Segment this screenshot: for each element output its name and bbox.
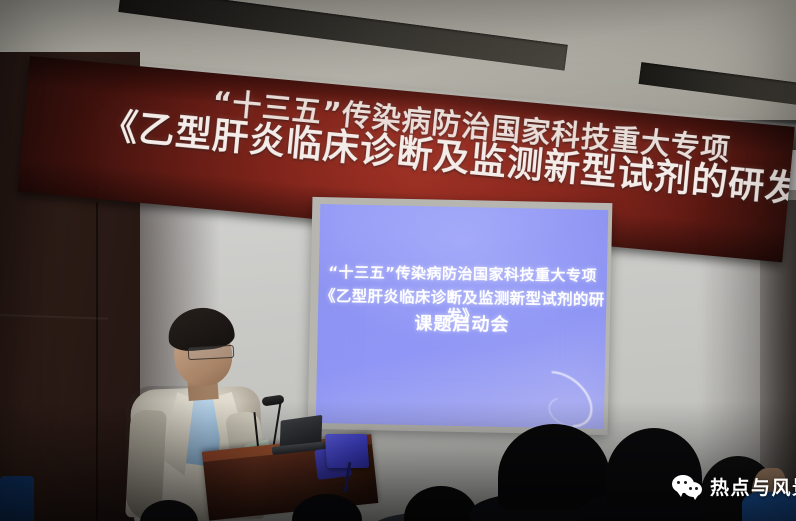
wall-panel-seam — [0, 314, 108, 320]
watermark-text: 热点与风景 — [710, 473, 796, 500]
ceiling-vent — [639, 62, 796, 114]
glasses-icon — [188, 345, 235, 360]
blue-bag — [325, 434, 369, 468]
slide-line-3: 课题启动会 — [318, 313, 606, 337]
ceiling-vent — [118, 0, 568, 71]
conference-photo: “十三五”传染病防治国家科技重大专项 《乙型肝炎临床诊断及监测新型试剂的研发》课… — [0, 0, 796, 521]
watermark: 热点与风景 — [672, 473, 796, 500]
slide-line-1: “十三五”传染病防治国家科技重大专项 — [318, 263, 606, 285]
audience-blue-shoulder — [0, 476, 34, 521]
projector-screen: “十三五”传染病防治国家科技重大专项 《乙型肝炎临床诊断及监测新型试剂的研发》 … — [316, 204, 609, 429]
wall-panel-seam — [96, 202, 98, 521]
wechat-icon — [672, 475, 702, 499]
